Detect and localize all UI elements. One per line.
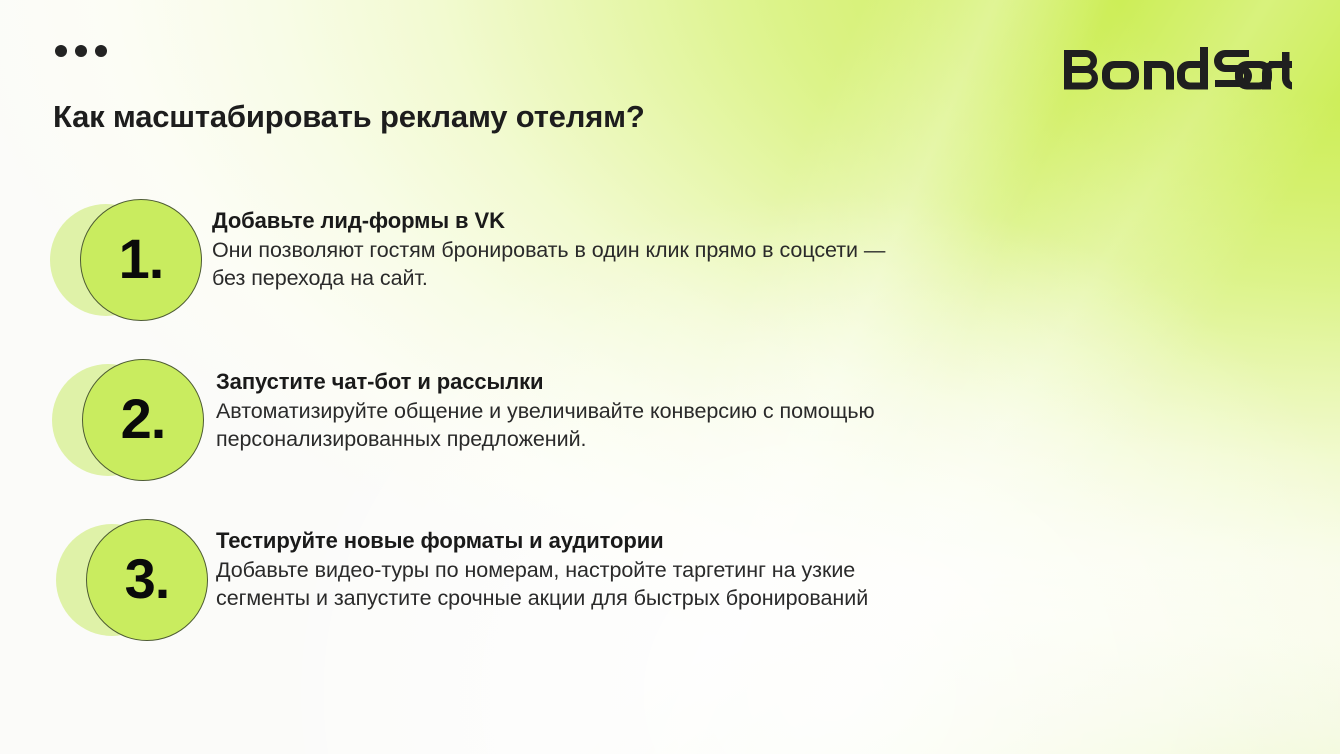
step-heading: Запустите чат-бот и рассылки — [216, 369, 875, 395]
list-item: 2. Запустите чат-бот и рассылки Автомати… — [0, 356, 1340, 516]
dot-2 — [75, 45, 87, 57]
bondsoft-logo — [1062, 47, 1292, 93]
list-item: 1. Добавьте лид-формы в VK Они позволяют… — [0, 196, 1340, 356]
step-heading: Добавьте лид-формы в VK — [212, 208, 885, 234]
badge-circle: 1. — [80, 199, 202, 321]
dot-1 — [55, 45, 67, 57]
step-text-block: Тестируйте новые форматы и аудитории Доб… — [216, 516, 868, 612]
step-heading: Тестируйте новые форматы и аудитории — [216, 528, 868, 554]
step-body: Добавьте видео-туры по номерам, настройт… — [216, 557, 868, 612]
step-badge: 2. — [52, 356, 198, 488]
page-title: Как масштабировать рекламу отелям? — [53, 99, 645, 135]
badge-circle: 2. — [82, 359, 204, 481]
list-item: 3. Тестируйте новые форматы и аудитории … — [0, 516, 1340, 676]
step-body: Они позволяют гостям бронировать в один … — [212, 237, 885, 292]
step-text-block: Запустите чат-бот и рассылки Автоматизир… — [216, 356, 875, 453]
badge-circle: 3. — [86, 519, 208, 641]
dot-3 — [95, 45, 107, 57]
step-badge: 1. — [50, 196, 196, 328]
badge-number: 2. — [121, 391, 166, 447]
three-dots-icon — [55, 45, 107, 57]
steps-list: 1. Добавьте лид-формы в VK Они позволяют… — [0, 196, 1340, 676]
step-body: Автоматизируйте общение и увеличивайте к… — [216, 398, 875, 453]
badge-number: 3. — [125, 551, 170, 607]
step-badge: 3. — [56, 516, 202, 648]
slide-canvas: Как масштабировать рекламу отелям? — [0, 0, 1340, 754]
step-text-block: Добавьте лид-формы в VK Они позволяют го… — [212, 196, 885, 292]
badge-number: 1. — [119, 231, 164, 287]
